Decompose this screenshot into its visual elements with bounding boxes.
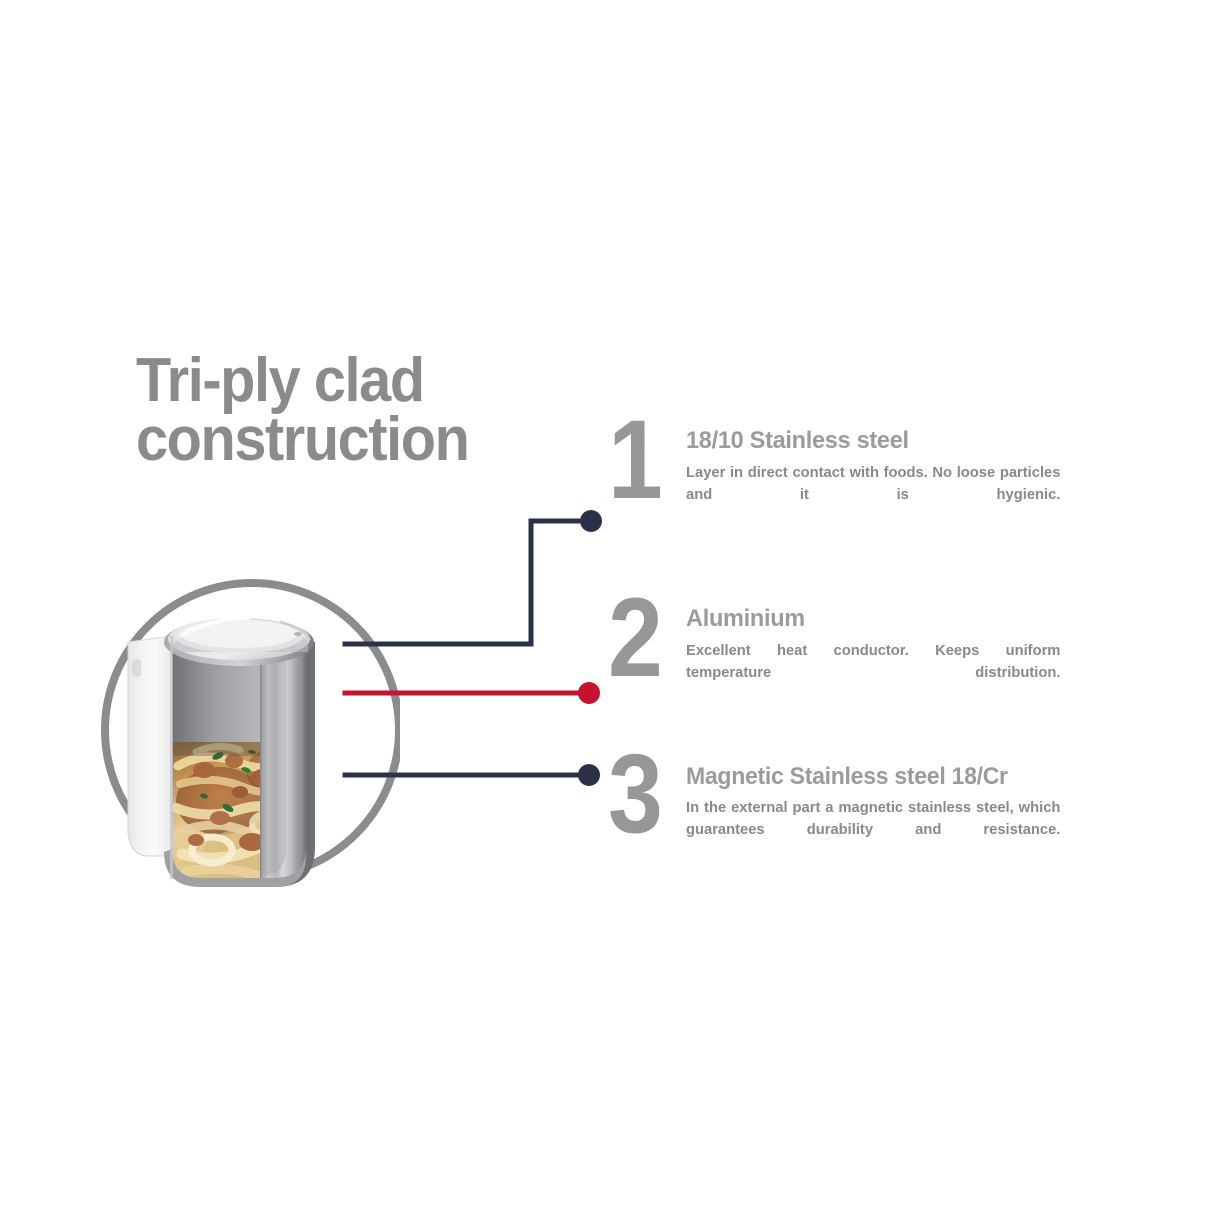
layer-heading-3: Magnetic Stainless steel 18/Cr (686, 764, 1051, 790)
layer-body-3: In the external part a magnetic stainles… (686, 797, 1060, 862)
layer-item-3: 3 Magnetic Stainless steel 18/Cr In the … (608, 748, 1066, 862)
layer-item-1: 1 18/10 Stainless steel Layer in direct … (608, 414, 1066, 527)
page-title-line-2: construction (136, 411, 527, 470)
infographic-canvas: Tri-ply clad construction (0, 0, 1214, 1215)
layer-heading-2: Aluminium (686, 606, 1051, 633)
layer-text-2: Aluminium Excellent heat conductor. Keep… (686, 592, 1066, 705)
connector-dot-3 (578, 764, 600, 786)
layer-edge-strip (306, 642, 315, 847)
layer-item-2: 2 Aluminium Excellent heat conductor. Ke… (608, 592, 1066, 705)
layer-heading-1: 18/10 Stainless steel (686, 428, 1051, 455)
layer-body-1: Layer in direct contact with foods. No l… (686, 462, 1060, 527)
page-title: Tri-ply clad construction (136, 352, 556, 470)
layer-text-1: 18/10 Stainless steel Layer in direct co… (686, 414, 1066, 527)
layer-number-2: 2 (608, 592, 677, 684)
pot-cutaway-svg (100, 556, 400, 904)
layer-body-2: Excellent heat conductor. Keeps uniform … (686, 640, 1060, 705)
page-title-line-1: Tri-ply clad (136, 352, 527, 411)
pot-cutaway-illustration (100, 556, 400, 904)
connector-dot-2 (578, 682, 600, 704)
layer-number-1: 1 (608, 414, 677, 506)
pot-body (128, 618, 315, 887)
pot-exterior-highlight (132, 659, 141, 677)
layer-text-3: Magnetic Stainless steel 18/Cr In the ex… (686, 748, 1066, 862)
connector-dot-1 (580, 510, 602, 532)
layer-number-3: 3 (608, 748, 677, 840)
